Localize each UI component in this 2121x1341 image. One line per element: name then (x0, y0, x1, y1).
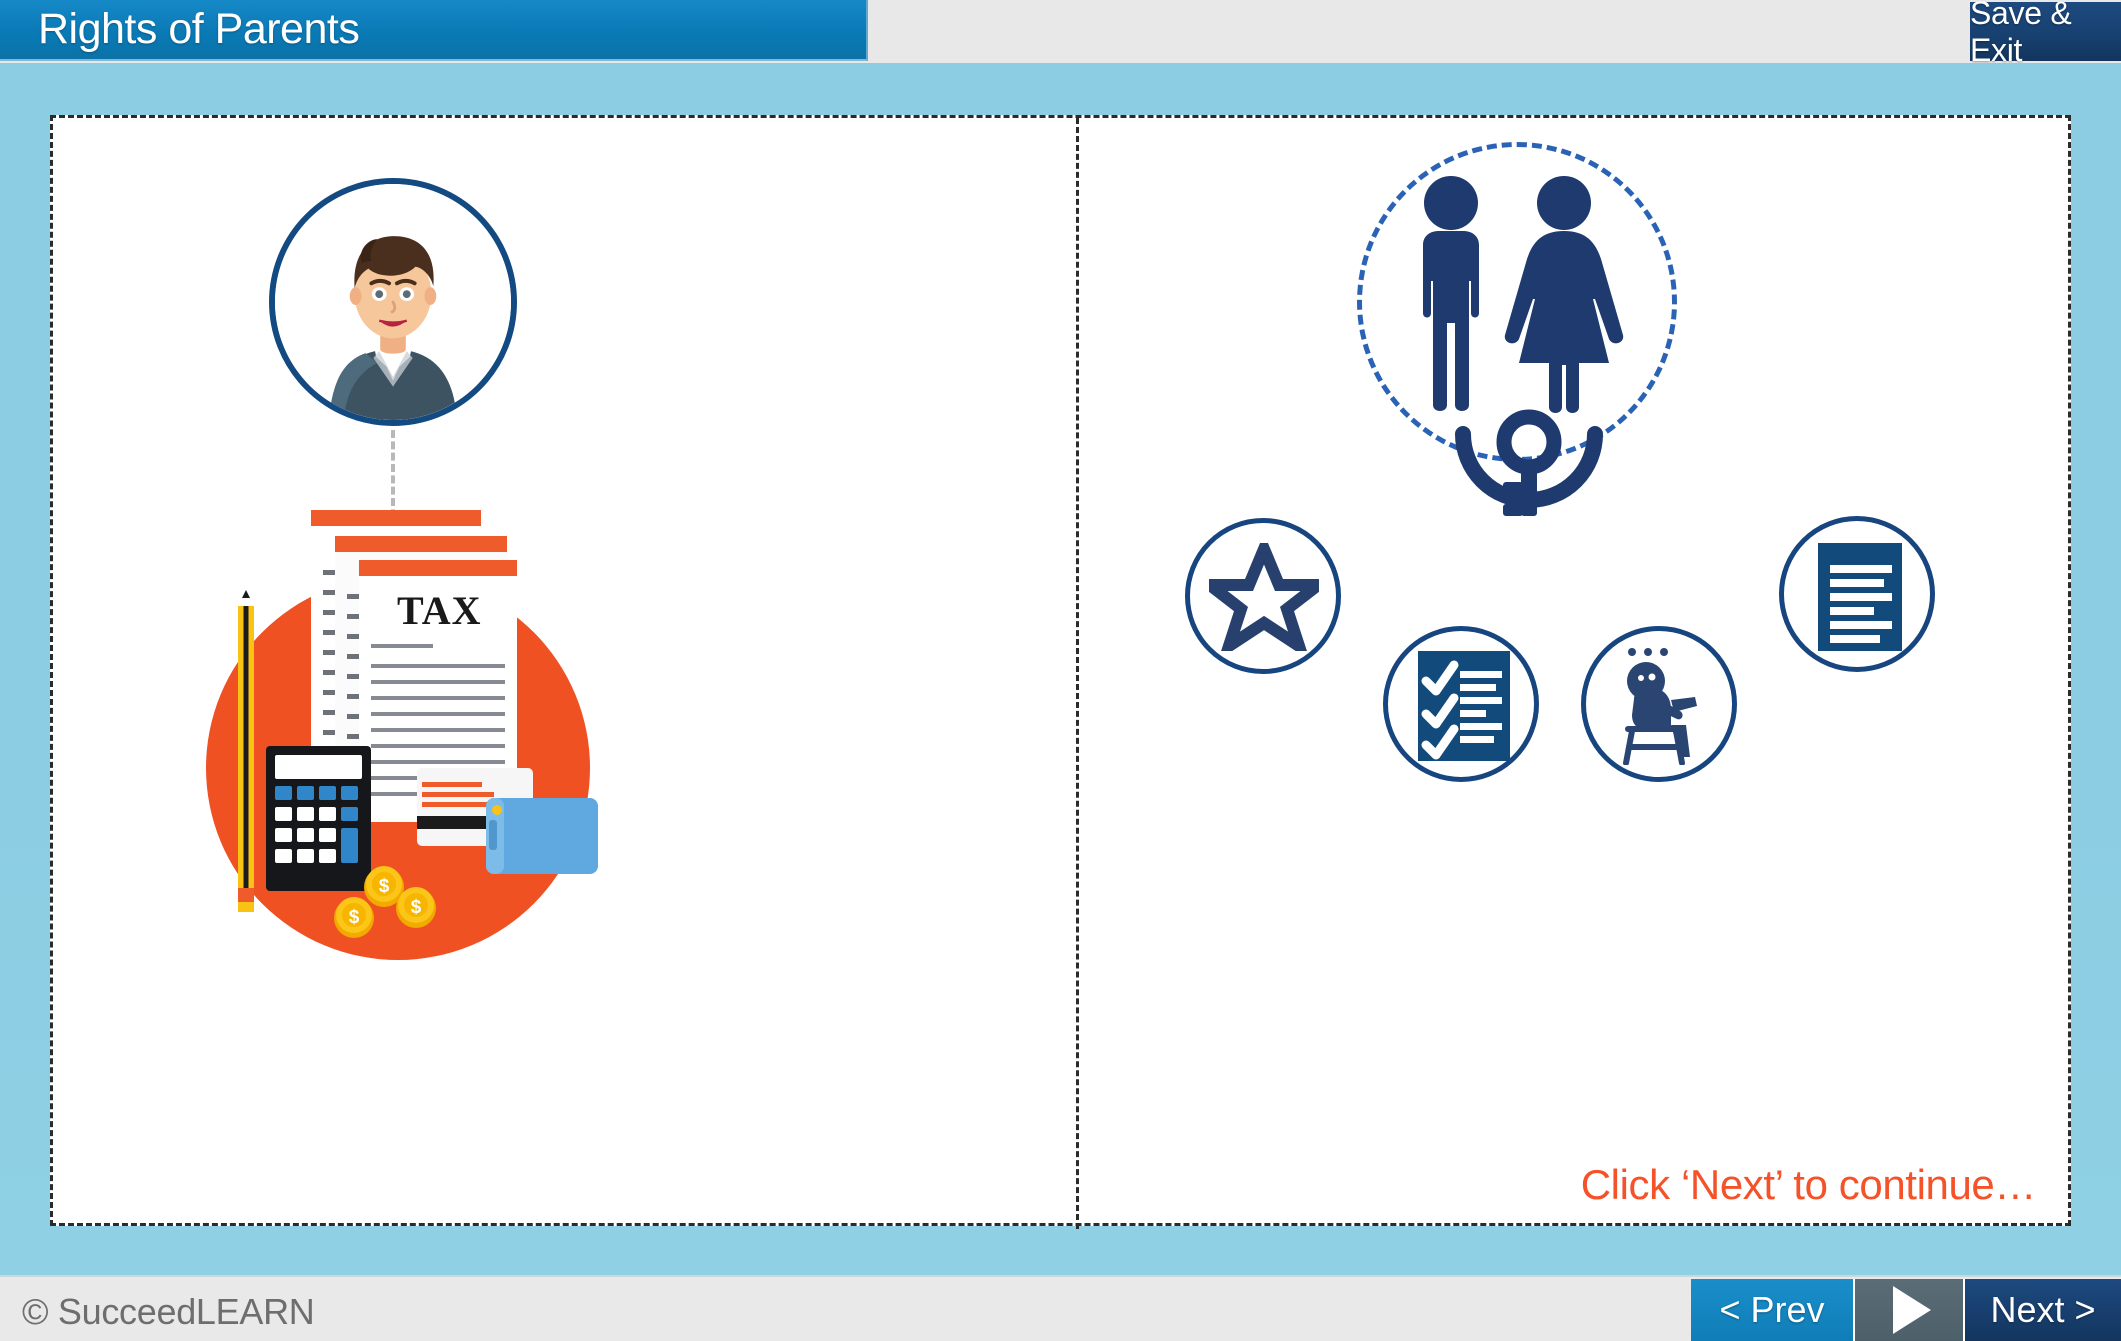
next-button-label: Next > (1990, 1289, 2095, 1331)
key-in-circle-icon (1455, 408, 1603, 546)
star-icon (1209, 543, 1319, 651)
course-player: Rights of Parents Save & Exit (0, 0, 2121, 1341)
checklist-icon (1418, 651, 1510, 761)
person-reading-icon (1608, 645, 1724, 765)
slide-stage: TAX (0, 63, 2121, 1275)
tax-documents-illustration: TAX (183, 478, 603, 978)
star-icon-circle[interactable] (1185, 518, 1341, 674)
student-avatar (269, 178, 517, 426)
save-and-exit-button[interactable]: Save & Exit (1970, 2, 2121, 61)
document-icon-circle[interactable] (1779, 516, 1935, 672)
left-panel: TAX (53, 118, 1076, 1229)
person-reading-icon-circle[interactable] (1581, 626, 1737, 782)
page-title: Rights of Parents (0, 5, 359, 54)
footer-bar: © SucceedLEARN < Prev Next > (0, 1275, 2121, 1341)
svg-text:$: $ (411, 897, 422, 918)
svg-text:TAX: TAX (397, 588, 481, 633)
navigation-buttons: < Prev Next > (1691, 1279, 2121, 1341)
tax-illustration-icon: TAX (183, 478, 603, 978)
document-icon (1818, 543, 1902, 651)
student-avatar-icon (275, 184, 511, 420)
top-bar: Rights of Parents Save & Exit (0, 0, 2121, 63)
right-panel: Click ‘Next’ to continue… (1079, 118, 2074, 1229)
svg-text:$: $ (349, 907, 360, 928)
prev-button-label: < Prev (1719, 1289, 1824, 1331)
click-next-prompt: Click ‘Next’ to continue… (1581, 1161, 2036, 1209)
content-card: TAX (50, 115, 2071, 1226)
checklist-icon-circle[interactable] (1383, 626, 1539, 782)
prev-button[interactable]: < Prev (1691, 1279, 1855, 1341)
parents-male-female-icon (1409, 173, 1633, 433)
play-icon (1893, 1286, 1931, 1334)
save-and-exit-label: Save & Exit (1970, 0, 2121, 69)
lesson-title-tab: Rights of Parents (0, 0, 868, 61)
next-button[interactable]: Next > (1965, 1279, 2121, 1341)
svg-text:$: $ (379, 876, 390, 897)
play-button[interactable] (1855, 1279, 1965, 1341)
copyright-text: © SucceedLEARN (22, 1291, 314, 1333)
